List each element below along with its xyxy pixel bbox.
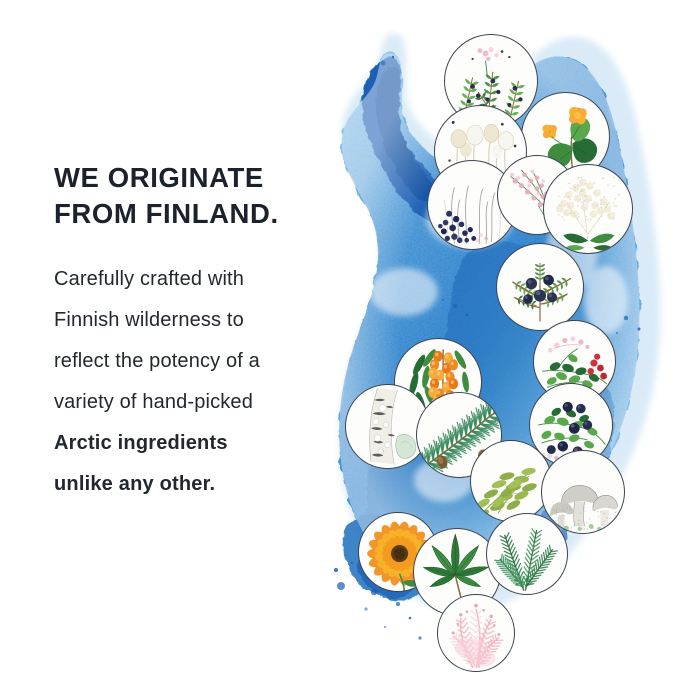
splatter-dot	[364, 607, 367, 610]
ingredient-circle-meadowsweet	[543, 164, 633, 254]
headline-line-2: FROM FINLAND.	[54, 196, 354, 232]
ingredient-circle-juniper	[496, 243, 584, 331]
splatter-dot	[364, 85, 366, 87]
body-line-2: Finnish wilderness to	[54, 300, 354, 341]
body-line-6: unlike any other.	[54, 464, 354, 505]
splatter-dot	[396, 602, 400, 606]
splatter-dot	[334, 568, 338, 572]
body-line-3: reflect the potency of a	[54, 341, 354, 382]
body-line-1: Carefully crafted with	[54, 259, 354, 300]
splatter-dot	[351, 562, 354, 565]
body-line-4: variety of hand-picked	[54, 382, 354, 423]
splatter-dot	[381, 61, 386, 66]
ingredient-circle-pink-algae	[437, 594, 515, 672]
splatter-dot	[392, 56, 394, 58]
body-paragraph: Carefully crafted withFinnish wilderness…	[54, 259, 354, 505]
splatter-dot	[638, 328, 641, 331]
splatter-dot	[370, 71, 373, 74]
splatter-dot	[384, 626, 386, 628]
splatter-dot	[616, 332, 618, 334]
splatter-dot	[418, 636, 421, 639]
splatter-dot	[453, 304, 457, 308]
splatter-dot	[624, 316, 628, 320]
text-block: WE ORIGINATEFROM FINLAND. Carefully craf…	[54, 160, 354, 505]
splatter-dot	[466, 314, 469, 317]
splatter-dot	[409, 617, 412, 620]
ingredient-circle-wild-mushrooms	[541, 450, 625, 534]
headline-line-1: WE ORIGINATE	[54, 160, 354, 196]
ingredient-circle-spruce-sprig	[486, 513, 568, 595]
ingredient-circle-rowan-leaf	[470, 440, 552, 522]
splatter-dot	[337, 582, 345, 590]
page-title: WE ORIGINATEFROM FINLAND.	[54, 160, 354, 233]
body-line-5: Arctic ingredients	[54, 423, 354, 464]
splatter-dot	[442, 299, 444, 301]
splatter-dot	[371, 589, 377, 595]
poster-canvas: WE ORIGINATEFROM FINLAND. Carefully craf…	[0, 0, 679, 679]
